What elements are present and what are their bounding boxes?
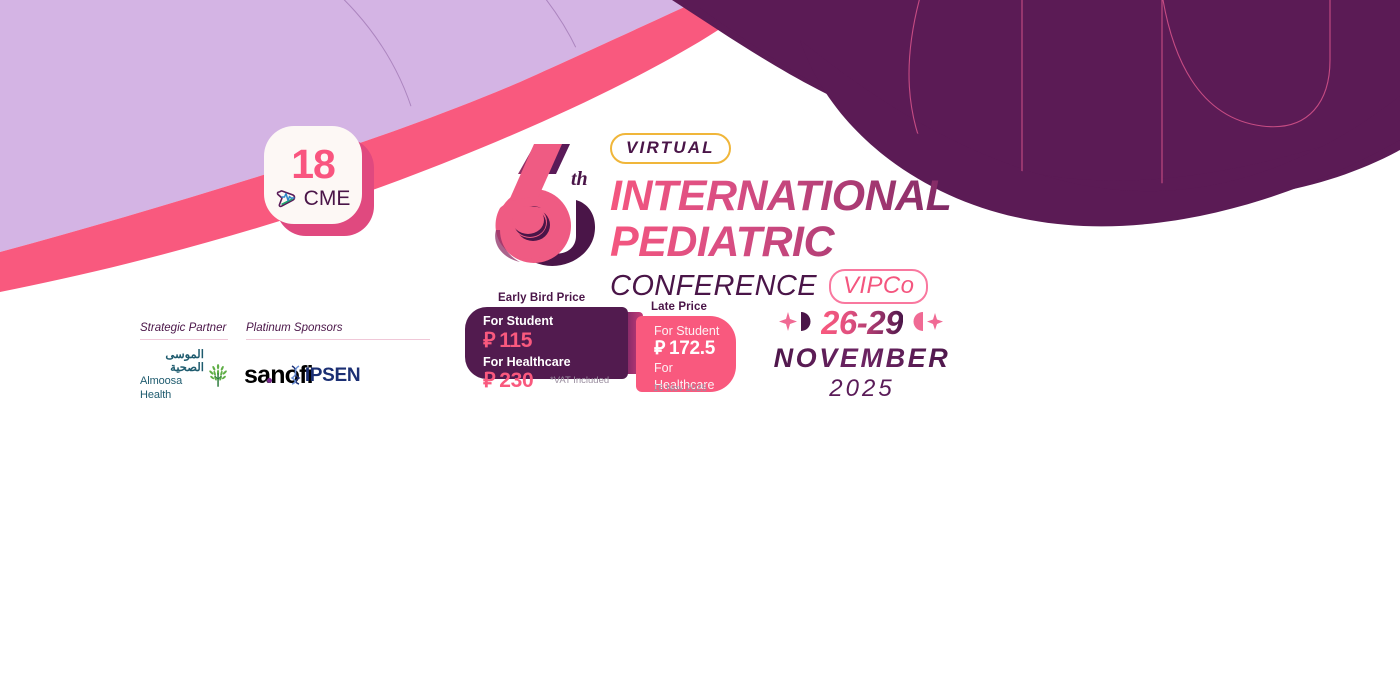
late-student-currency: ⃁ <box>654 339 665 358</box>
late-healthcare-amount: 287.5 <box>669 393 715 412</box>
cme-label: CME <box>304 188 351 209</box>
strategic-partner-heading: Strategic Partner <box>140 322 228 340</box>
virtual-tag-pill: VIRTUAL <box>610 133 731 164</box>
event-date-month: NOVEMBER <box>762 345 962 372</box>
late-student-label: For Student <box>654 323 736 339</box>
almoosa-health-logo: الموسى الصحية Almoosa Health <box>140 349 228 402</box>
edition-number-6-3d <box>478 138 608 270</box>
cme-pulse-hand-icon <box>276 188 302 208</box>
early-student-currency: ⃁ <box>483 330 495 351</box>
late-price-heading: Late Price <box>651 301 707 313</box>
acronym-pill: VIPCo <box>829 269 928 304</box>
early-student-label: For Student <box>483 314 628 330</box>
early-healthcare-amount: 230 <box>499 370 533 391</box>
vat-note: *VAT Included <box>550 375 609 386</box>
conference-banner: 18 CME th <box>0 0 1400 700</box>
event-date-block: 26-29 NOVEMBER 2025 <box>762 305 962 400</box>
late-student-amount: 172.5 <box>669 339 715 358</box>
event-date-days: 26-29 <box>821 306 903 339</box>
edition-ordinal-suffix: th <box>571 168 588 191</box>
acronym-label: VIPCo <box>843 272 914 299</box>
event-date-year: 2025 <box>762 377 962 401</box>
early-student-amount: 115 <box>499 330 532 351</box>
early-healthcare-label: For Healthcare <box>483 355 628 371</box>
cme-credit-number: 18 <box>291 144 335 185</box>
early-healthcare-currency: ⃁ <box>483 370 495 391</box>
cme-badge-card: 18 CME <box>264 126 362 224</box>
sparkle-crescent-left-icon <box>779 309 813 335</box>
ipsen-helix-icon <box>288 364 303 386</box>
almoosa-english-name: Almoosa Health <box>140 375 204 401</box>
almoosa-arabic-name: الموسى الصحية <box>140 349 204 375</box>
headline-line-international: INTERNATIONAL <box>610 175 1030 218</box>
sponsors-block: Strategic Partner Platinum Sponsors المو… <box>140 322 440 402</box>
sanofi-dot-icon <box>267 378 272 383</box>
pricing-block: Early Bird Price Late Price For Student … <box>455 285 755 410</box>
headline-line-pediatric: PEDIATRIC <box>610 221 1030 264</box>
late-price-date-note: 16 Nov 2025 <box>653 383 707 394</box>
virtual-tag-label: VIRTUAL <box>626 138 715 157</box>
sanofi-logo: sanofi <box>244 363 272 388</box>
early-bird-price-box: For Student ⃁ 115 For Healthcare ⃁ 230 <box>465 307 628 379</box>
early-bird-heading: Early Bird Price <box>498 292 585 304</box>
late-price-box: For Student ⃁ 172.5 For Healthcare ⃁ 287… <box>636 316 736 392</box>
ipsen-logo: IPSEN <box>288 364 361 386</box>
almoosa-tree-icon <box>208 360 228 390</box>
sparkle-crescent-right-icon <box>911 309 945 335</box>
headline-block: VIRTUAL INTERNATIONAL PEDIATRIC CONFEREN… <box>610 133 1030 304</box>
platinum-sponsors-heading: Platinum Sponsors <box>246 322 430 340</box>
cme-credits-badge: 18 CME <box>264 126 374 236</box>
late-healthcare-currency: ⃁ <box>654 393 665 412</box>
ipsen-wordmark: IPSEN <box>305 366 361 385</box>
